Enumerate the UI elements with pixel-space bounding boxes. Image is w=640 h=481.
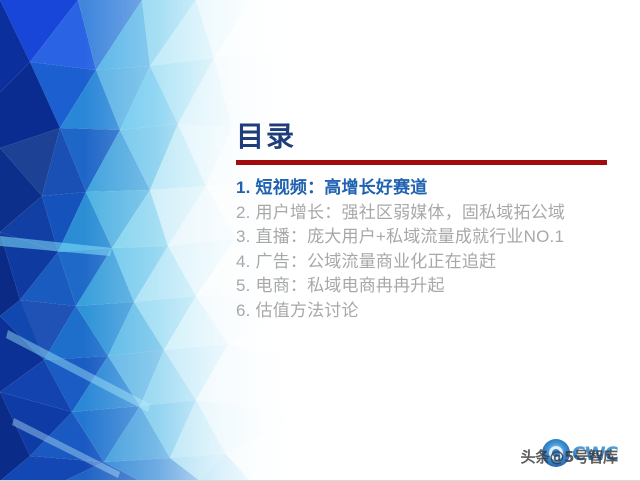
table-of-contents-list: 1. 短视频：高增长好赛道 2. 用户增长：强社区弱媒体，固私域拓公域 3. 直…	[236, 176, 636, 323]
page-number: 3	[33, 453, 39, 465]
slide-canvas: 3 目录 1. 短视频：高增长好赛道 2. 用户增长：强社区弱媒体，固私域拓公域…	[0, 0, 640, 481]
toc-item-3[interactable]: 3. 直播：庞大用户+私域流量成就行业NO.1	[236, 225, 636, 250]
toc-item-4[interactable]: 4. 广告：公域流量商业化正在追赶	[236, 250, 636, 275]
toc-item-2[interactable]: 2. 用户增长：强社区弱媒体，固私域拓公域	[236, 201, 636, 226]
toc-item-1[interactable]: 1. 短视频：高增长好赛道	[236, 176, 636, 201]
toc-item-5[interactable]: 5. 电商：私域电商冉冉升起	[236, 274, 636, 299]
title-block: 目录	[236, 120, 608, 165]
watermark-text: 头条@5号智库	[502, 446, 636, 467]
toc-item-6[interactable]: 6. 估值方法讨论	[236, 299, 636, 324]
watermark: CWC 头条@5号智库	[500, 437, 636, 473]
page-title: 目录	[236, 120, 608, 154]
title-underline-rule	[236, 160, 607, 165]
